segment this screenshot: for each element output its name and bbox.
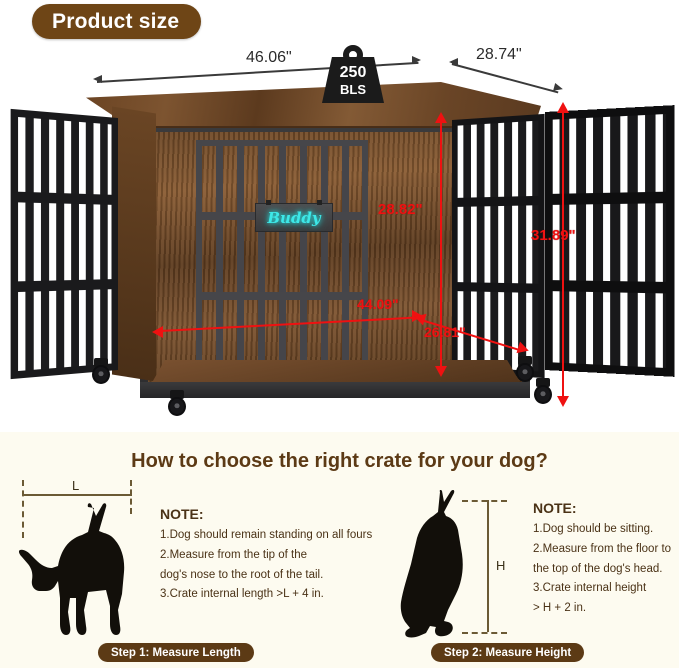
- caster-wheel-front-right: [534, 378, 552, 404]
- step-1-label: Step 1: Measure Length: [111, 647, 241, 659]
- weight-badge-unit: BLS: [322, 83, 384, 96]
- caster-wheel: [534, 385, 552, 404]
- length-note-title: NOTE:: [160, 506, 204, 522]
- crate-inner-left-wall: [112, 107, 156, 382]
- dimension-depth-label: 28.74": [476, 46, 522, 64]
- dimension-door-height-arrow-top: [557, 102, 569, 113]
- caster-wheel-rear-left: [92, 358, 110, 384]
- height-note-item: 1.Dog should be sitting.: [533, 520, 671, 540]
- dimension-interior-length-arrow-left: [152, 326, 163, 338]
- height-bracket-tick-top: [462, 500, 507, 502]
- right-door-crossbar-lower: [553, 280, 666, 293]
- caster-wheel-rear-right: [516, 356, 534, 382]
- dimension-interior-length-label: 44.09": [357, 296, 399, 312]
- right-door-crossbar-upper: [553, 192, 666, 205]
- dimension-door-height-line: [562, 110, 564, 400]
- height-bracket-tick-bottom: [462, 632, 507, 634]
- dimension-width-label: 46.06": [246, 49, 292, 67]
- dimension-interior-depth-label: 26.81": [424, 324, 466, 340]
- nameplate-hook-left: [266, 200, 271, 205]
- front-door-crossbar-lower: [202, 292, 362, 300]
- dimension-width-arrow-left: [93, 75, 102, 83]
- section-title-text: Product size: [52, 10, 179, 34]
- height-note-title: NOTE:: [533, 500, 577, 516]
- weight-badge-value: 250: [322, 65, 384, 81]
- nameplate-hook-right: [317, 200, 322, 205]
- section-title-product-size: Product size: [32, 4, 201, 39]
- step-2-label: Step 2: Measure Height: [444, 647, 571, 659]
- height-note-item: 3.Crate internal height: [533, 579, 671, 599]
- length-note-item: dog's nose to the root of the tail.: [160, 566, 372, 586]
- dimension-width-arrow-right: [412, 56, 421, 64]
- length-bracket-line: [22, 494, 132, 496]
- right-side-crossbar-lower: [458, 282, 539, 293]
- caster-wheel: [168, 397, 186, 416]
- dimension-depth-arrow-left: [449, 58, 458, 66]
- caster-wheel-front-left: [168, 390, 186, 416]
- dimension-interior-height-arrow-top: [435, 112, 447, 123]
- caster-wheel: [92, 365, 110, 384]
- guide-heading: How to choose the right crate for your d…: [0, 450, 679, 473]
- nameplate-text: Buddy: [267, 209, 320, 227]
- left-door-vertical-bars: [18, 117, 111, 371]
- crate-selection-guide-section: How to choose the right crate for your d…: [0, 432, 679, 668]
- caster-wheel: [516, 363, 534, 382]
- sitting-dog-silhouette: [400, 490, 492, 640]
- product-size-section: Product size Buddy: [0, 0, 679, 432]
- crate-illustration: Buddy: [0, 60, 679, 432]
- height-note-item: the top of the dog's head.: [533, 560, 671, 580]
- height-note-item: 2.Measure from the floor to: [533, 540, 671, 560]
- step-1-badge: Step 1: Measure Length: [98, 643, 254, 662]
- right-side-crossbar-upper: [458, 196, 539, 207]
- crate-base-rail: [140, 382, 530, 398]
- length-note-list: 1.Dog should remain standing on all four…: [160, 526, 372, 605]
- front-door-vertical-bars: [202, 146, 362, 370]
- weight-capacity-badge: 250 BLS: [322, 45, 384, 103]
- step-2-badge: Step 2: Measure Height: [431, 643, 584, 662]
- height-note-item: > H + 2 in.: [533, 599, 671, 619]
- length-note-item: 1.Dog should remain standing on all four…: [160, 526, 372, 546]
- dimension-interior-height-label: 28.82": [378, 201, 423, 218]
- length-bracket-label: L: [72, 478, 79, 493]
- product-infographic: Product size Buddy: [0, 0, 679, 668]
- length-note-item: 3.Crate internal length >L + 4 in.: [160, 585, 372, 605]
- standing-dog-silhouette: [18, 502, 143, 637]
- crate-front-door: [196, 140, 368, 376]
- pet-nameplate: Buddy: [255, 203, 333, 232]
- height-bracket-label: H: [496, 558, 505, 573]
- dimension-door-height-arrow-bottom: [557, 396, 569, 407]
- height-bracket-line: [487, 500, 489, 632]
- length-note-item: 2.Measure from the tip of the: [160, 546, 372, 566]
- dimension-interior-height-arrow-bottom: [435, 366, 447, 377]
- height-note-list: 1.Dog should be sitting. 2.Measure from …: [533, 520, 671, 619]
- dimension-door-height-label: 31.89": [531, 227, 576, 244]
- crate-left-door-open: [11, 109, 118, 379]
